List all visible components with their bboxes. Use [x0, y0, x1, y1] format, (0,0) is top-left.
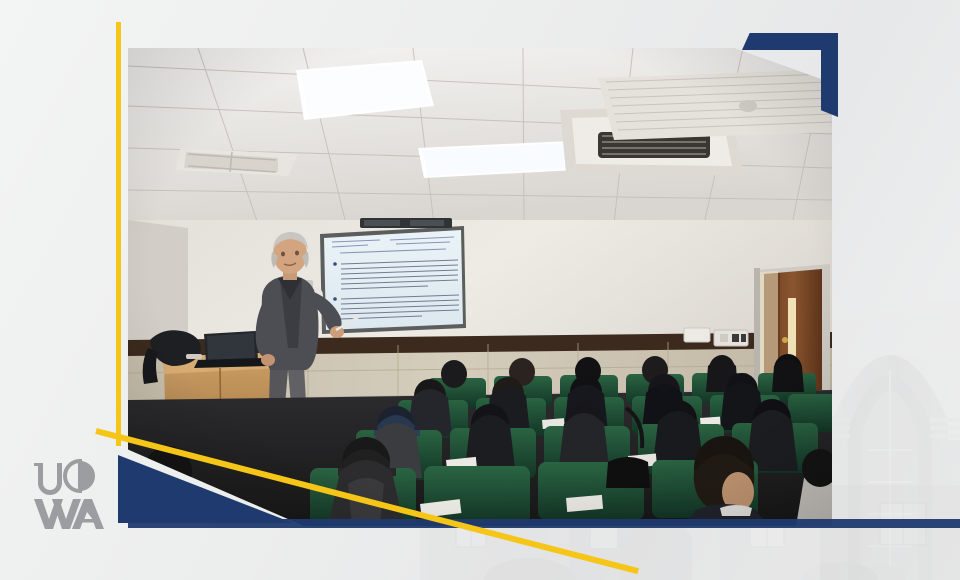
poster-canvas: [0, 0, 960, 580]
navy-corner-bracket: [742, 33, 838, 117]
bracket-vertical-arm: [821, 33, 838, 117]
yellow-vertical-rule: [116, 22, 121, 446]
uowa-logo: [30, 455, 110, 535]
lecture-hall-photo: [128, 48, 832, 526]
